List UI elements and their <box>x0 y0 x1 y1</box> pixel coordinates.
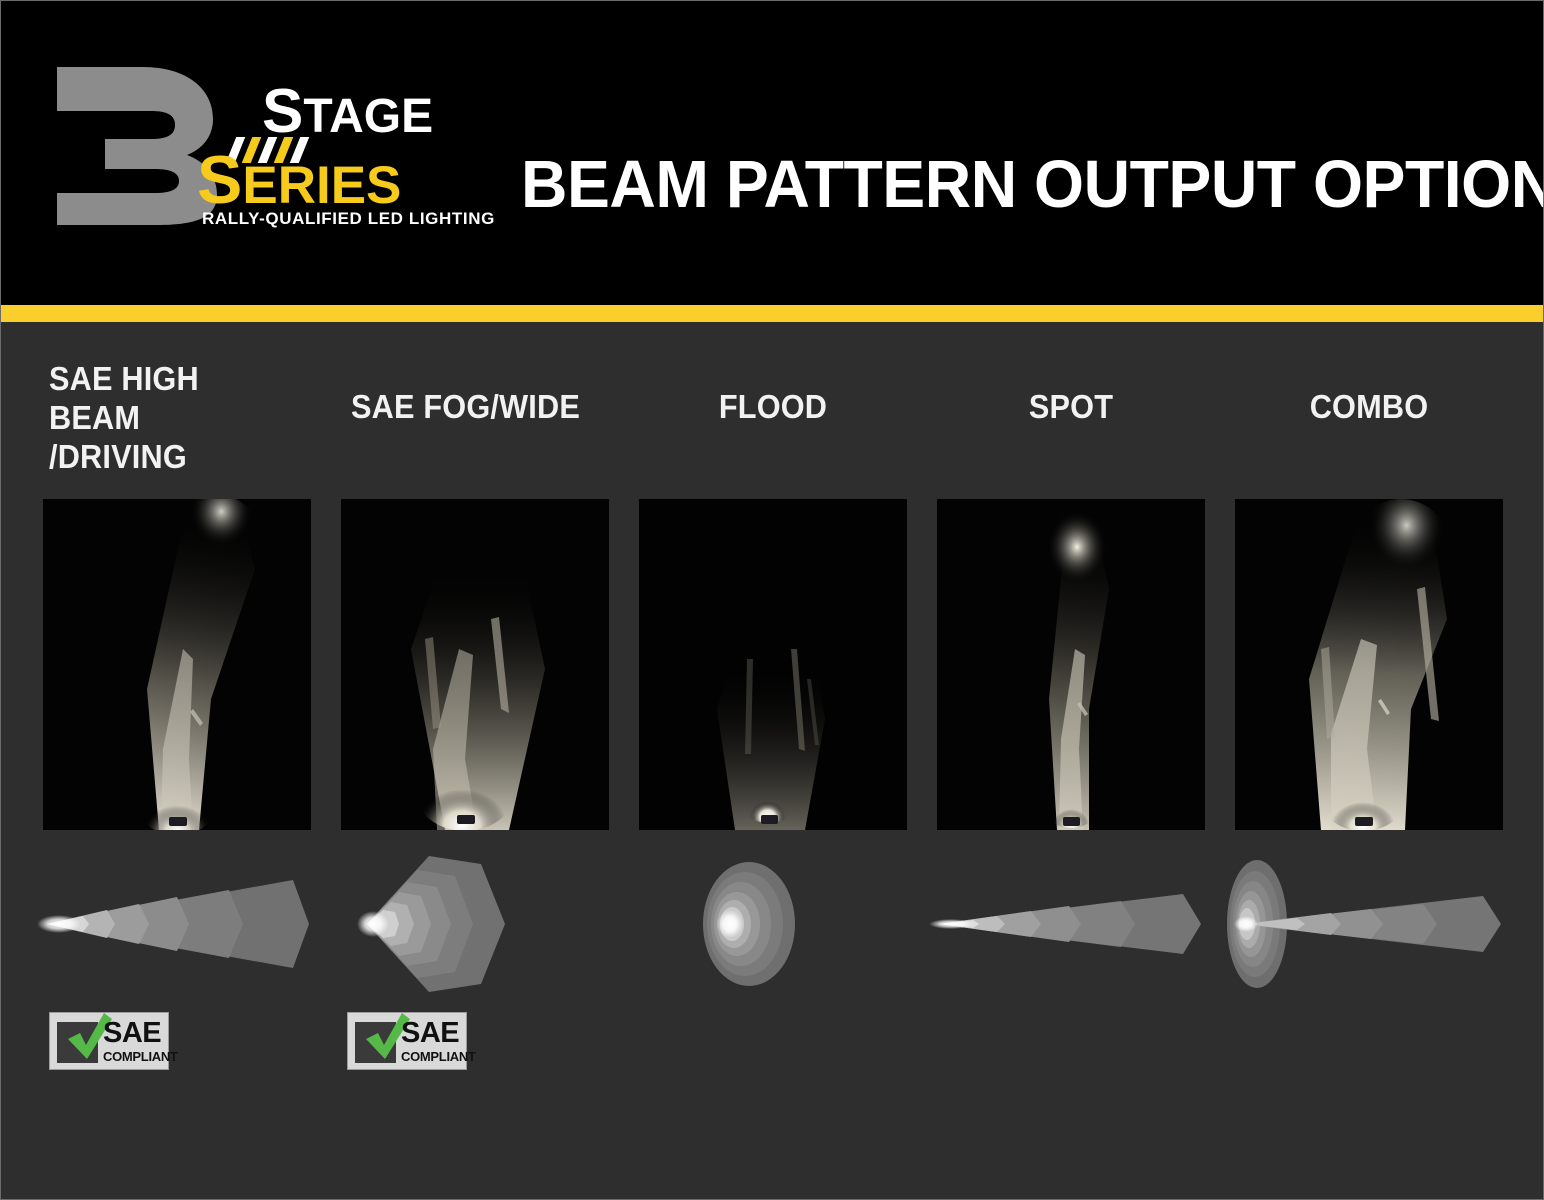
logo-series-cap: S <box>197 142 242 218</box>
beam-pattern-poster: STAGE SERIES RALLY-QUALIFIED LED LIGHTIN… <box>0 0 1544 1200</box>
column-label-sae-fog-wide: SAE FOG/WIDE <box>351 388 600 427</box>
logo-stage-rest: TAGE <box>303 90 433 143</box>
column-label-spot: SPOT <box>946 388 1195 427</box>
header-divider-bar <box>1 305 1544 322</box>
column-label-flood: FLOOD <box>648 388 897 427</box>
badge-subtitle: COMPLIANT <box>103 1050 169 1063</box>
logo-word-stage: STAGE <box>262 81 433 143</box>
badge-title: SAE <box>401 1019 467 1048</box>
beam-diagram-sae-high-beam-driving <box>43 854 311 994</box>
stage-series-logo: STAGE SERIES RALLY-QUALIFIED LED LIGHTIN… <box>47 53 477 238</box>
beam-diagram-spot <box>937 854 1205 994</box>
column-label-line-1: SPOT <box>946 388 1195 427</box>
column-label-line-1: SAE HIGH BEAM <box>49 360 298 438</box>
beam-photo-flood <box>639 499 907 830</box>
beam-column-flood: FLOOD <box>639 322 907 1200</box>
beam-column-sae-fog-wide: SAE FOG/WIDE <box>341 322 609 1200</box>
column-label-line-1: FLOOD <box>648 388 897 427</box>
beam-comparison-grid: SAE HIGH BEAM /DRIVING <box>1 322 1544 1200</box>
beam-diagram-combo <box>1235 854 1503 994</box>
column-label-line-1: SAE FOG/WIDE <box>351 388 600 427</box>
beam-diagram-flood <box>639 854 907 994</box>
logo-tagline: RALLY-QUALIFIED LED LIGHTING <box>202 209 495 229</box>
logo-stage-cap: S <box>262 77 303 146</box>
beam-photo-sae-fog-wide <box>341 499 609 830</box>
column-label-line-1: COMBO <box>1244 388 1493 427</box>
column-label-line-2: /DRIVING <box>49 438 298 477</box>
sae-compliant-badge-sae-fog-wide: SAE COMPLIANT <box>347 1012 467 1070</box>
page-title: BEAM PATTERN OUTPUT OPTIONS <box>521 151 1544 218</box>
column-label-combo: COMBO <box>1244 388 1493 427</box>
beam-photo-combo <box>1235 499 1503 830</box>
beam-column-combo: COMBO <box>1235 322 1503 1200</box>
badge-text-block: SAE COMPLIANT <box>103 1019 169 1063</box>
logo-series-rest: ERIES <box>242 156 401 215</box>
beam-column-spot: SPOT <box>937 322 1205 1200</box>
beam-diagram-sae-fog-wide <box>341 854 609 994</box>
sae-compliant-badge-sae-high-beam-driving: SAE COMPLIANT <box>49 1012 169 1070</box>
logo-word-series: SERIES <box>197 146 401 214</box>
beam-photo-sae-high-beam-driving <box>43 499 311 830</box>
beam-photo-spot <box>937 499 1205 830</box>
badge-title: SAE <box>103 1019 169 1048</box>
badge-text-block: SAE COMPLIANT <box>401 1019 467 1063</box>
beam-column-sae-high-beam-driving: SAE HIGH BEAM /DRIVING <box>43 322 311 1200</box>
column-label-sae-high-beam-driving: SAE HIGH BEAM /DRIVING <box>49 360 298 477</box>
badge-subtitle: COMPLIANT <box>401 1050 467 1063</box>
poster-header: STAGE SERIES RALLY-QUALIFIED LED LIGHTIN… <box>1 1 1544 305</box>
